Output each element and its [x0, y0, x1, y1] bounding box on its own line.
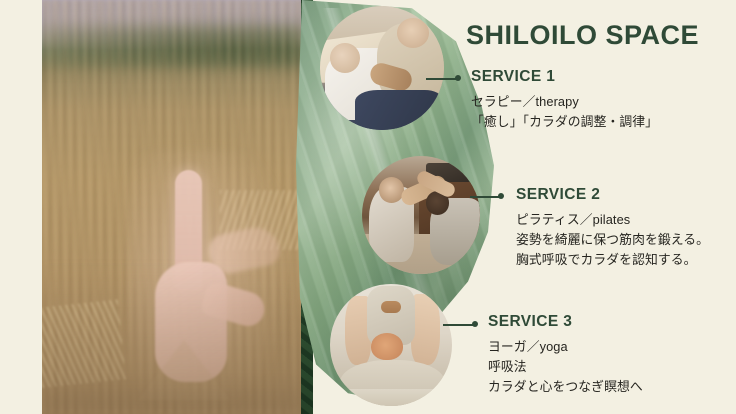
service-2-description: ピラティス／pilates 姿勢を綺麗に保つ筋肉を鍛える。 胸式呼吸でカラダを認…: [516, 210, 709, 269]
service-3-heading: SERVICE 3: [488, 313, 643, 331]
service-2-heading: SERVICE 2: [516, 186, 709, 204]
hero-photo-bottom-blur: [42, 264, 304, 414]
service-3-block: SERVICE 3 ヨーガ／yoga 呼吸法 カラダと心をつなぎ瞑想へ: [488, 313, 643, 396]
service-1-block: SERVICE 1 セラピー／therapy 「癒し」「カラダの調整・調律」: [471, 68, 658, 132]
client-head: [330, 43, 360, 73]
service-1-photo[interactable]: [320, 6, 444, 130]
service-1-description: セラピー／therapy 「癒し」「カラダの調整・調律」: [471, 92, 658, 132]
service-3-line-3: カラダと心をつなぎ瞑想へ: [488, 377, 643, 397]
hero-photo: [42, 0, 304, 414]
arrow-service-1: [426, 74, 460, 84]
arrow-service-2: [470, 192, 503, 202]
arrow-dot-icon: [498, 193, 504, 199]
yoga-mat: [330, 389, 452, 406]
service-3-line-2: 呼吸法: [488, 357, 643, 377]
service-3-description: ヨーガ／yoga 呼吸法 カラダと心をつなぎ瞑想へ: [488, 337, 643, 396]
yogi-hands: [371, 333, 403, 360]
therapist-head: [397, 18, 429, 48]
yogi-neck: [381, 301, 401, 313]
service-2-line-3: 胸式呼吸でカラダを認知する。: [516, 250, 709, 270]
service-3-photo[interactable]: [330, 284, 452, 406]
service-1-heading: SERVICE 1: [471, 68, 658, 86]
service-2-photo[interactable]: [362, 156, 480, 274]
service-1-line-2: 「癒し」「カラダの調整・調律」: [471, 112, 658, 132]
service-1-line-1: セラピー／therapy: [471, 92, 658, 112]
service-2-line-1: ピラティス／pilates: [516, 210, 709, 230]
client-jeans: [355, 90, 442, 130]
service-2-block: SERVICE 2 ピラティス／pilates 姿勢を綺麗に保つ筋肉を鍛える。 …: [516, 186, 709, 269]
page-title: SHILOILO SPACE: [466, 20, 699, 51]
service-2-line-2: 姿勢を綺麗に保つ筋肉を鍛える。: [516, 230, 709, 250]
arrow-service-3: [443, 320, 477, 330]
service-3-line-1: ヨーガ／yoga: [488, 337, 643, 357]
slide-canvas: SHILOILO SPACE SERVICE 1 セラピー／therapy 「癒…: [0, 0, 736, 414]
